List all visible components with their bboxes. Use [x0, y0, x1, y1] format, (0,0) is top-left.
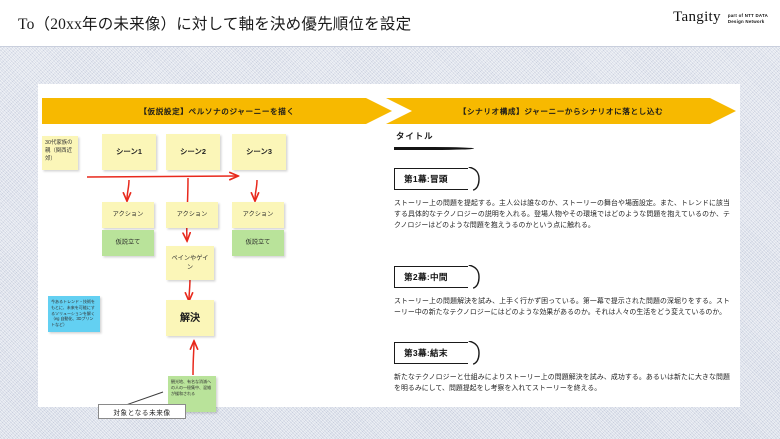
- sticky-note-hypothesis-2: 仮説立て: [232, 230, 284, 256]
- phase-banner-hypothesis-label: 【仮説設定】ペルソナのジャーニーを描く: [139, 106, 294, 117]
- target-future-label: 対象となる未来像: [98, 404, 186, 419]
- brand-tagline: part of NTT DATA Design Network: [728, 10, 768, 26]
- act-body-3: 新たなテクノロジーと仕組みによりストーリー上の問題解決を試み、成功する。あるいは…: [394, 372, 730, 394]
- slide-canvas: 【仮説設定】ペルソナのジャーニーを描く 【シナリオ構成】ジャーニーからシナリオに…: [38, 84, 740, 407]
- sticky-note-pain-gain: ペインやゲイン: [166, 246, 214, 280]
- act-body-2: ストーリー上の問題解決を試み、上手く行かず困っている。第一幕で提示された問題の深…: [394, 296, 730, 318]
- journey-diagram: 30代家族の親（関西近郊） シーン1 シーン2 シーン3 アクション アクション…: [38, 130, 386, 407]
- act-heading-1: 第1幕:冒頭: [394, 168, 468, 190]
- sticky-note-action-2: アクション: [166, 202, 218, 228]
- sticky-note-action-3: アクション: [232, 202, 284, 228]
- sticky-note-hypothesis-1: 仮説立て: [102, 230, 154, 256]
- act-block-1: 第1幕:冒頭 ストーリー上の問題を提起する。主人公は誰なのか、ストーリーの舞台や…: [394, 168, 734, 232]
- brand-logo: Tangity part of NTT DATA Design Network: [673, 10, 768, 26]
- act-heading-3: 第3幕:結末: [394, 342, 468, 364]
- title-underline: [394, 147, 474, 150]
- act-body-1: ストーリー上の問題を提起する。主人公は誰なのか、ストーリーの舞台や場面設定。また…: [394, 198, 730, 232]
- slide-header: To（20xx年の未来像）に対して軸を決め優先順位を設定 Tangity par…: [0, 0, 780, 47]
- scenario-panel: タイトル 第1幕:冒頭 ストーリー上の問題を提起する。主人公は誰なのか、ストーリ…: [390, 130, 738, 407]
- act-heading-2: 第2幕:中間: [394, 266, 468, 288]
- bracket-hook-icon: [468, 167, 481, 190]
- sticky-note-persona: 30代家族の親（関西近郊）: [42, 136, 78, 170]
- bracket-hook-icon: [468, 341, 481, 364]
- phase-banner-hypothesis: 【仮説設定】ペルソナのジャーニーを描く: [42, 98, 392, 124]
- scenario-title: タイトル: [396, 130, 434, 142]
- sticky-note-scene-1: シーン1: [102, 134, 156, 170]
- bracket-hook-icon: [468, 265, 481, 288]
- sticky-note-scene-3: シーン3: [232, 134, 286, 170]
- phase-banner-scenario-label: 【シナリオ構成】ジャーニーからシナリオに落とし込む: [459, 106, 663, 117]
- brand-name: Tangity: [673, 10, 721, 25]
- phase-banner-row: 【仮説設定】ペルソナのジャーニーを描く 【シナリオ構成】ジャーニーからシナリオに…: [38, 98, 740, 124]
- act-block-2: 第2幕:中間 ストーリー上の問題解決を試み、上手く行かず困っている。第一幕で提示…: [394, 266, 734, 318]
- sticky-note-action-1: アクション: [102, 202, 154, 228]
- act-block-3: 第3幕:結末 新たなテクノロジーと仕組みによりストーリー上の問題解決を試み、成功…: [394, 342, 734, 394]
- page-title: To（20xx年の未来像）に対して軸を決め優先順位を設定: [18, 12, 411, 34]
- sticky-note-scene-2: シーン2: [166, 134, 220, 170]
- phase-banner-scenario: 【シナリオ構成】ジャーニーからシナリオに落とし込む: [386, 98, 736, 124]
- sticky-note-solution-trends: 今あるトレンド・技術をもとに、未来を可能にするソリューションを解く（eg 自動化…: [48, 296, 100, 332]
- sticky-note-solve: 解決: [166, 300, 214, 336]
